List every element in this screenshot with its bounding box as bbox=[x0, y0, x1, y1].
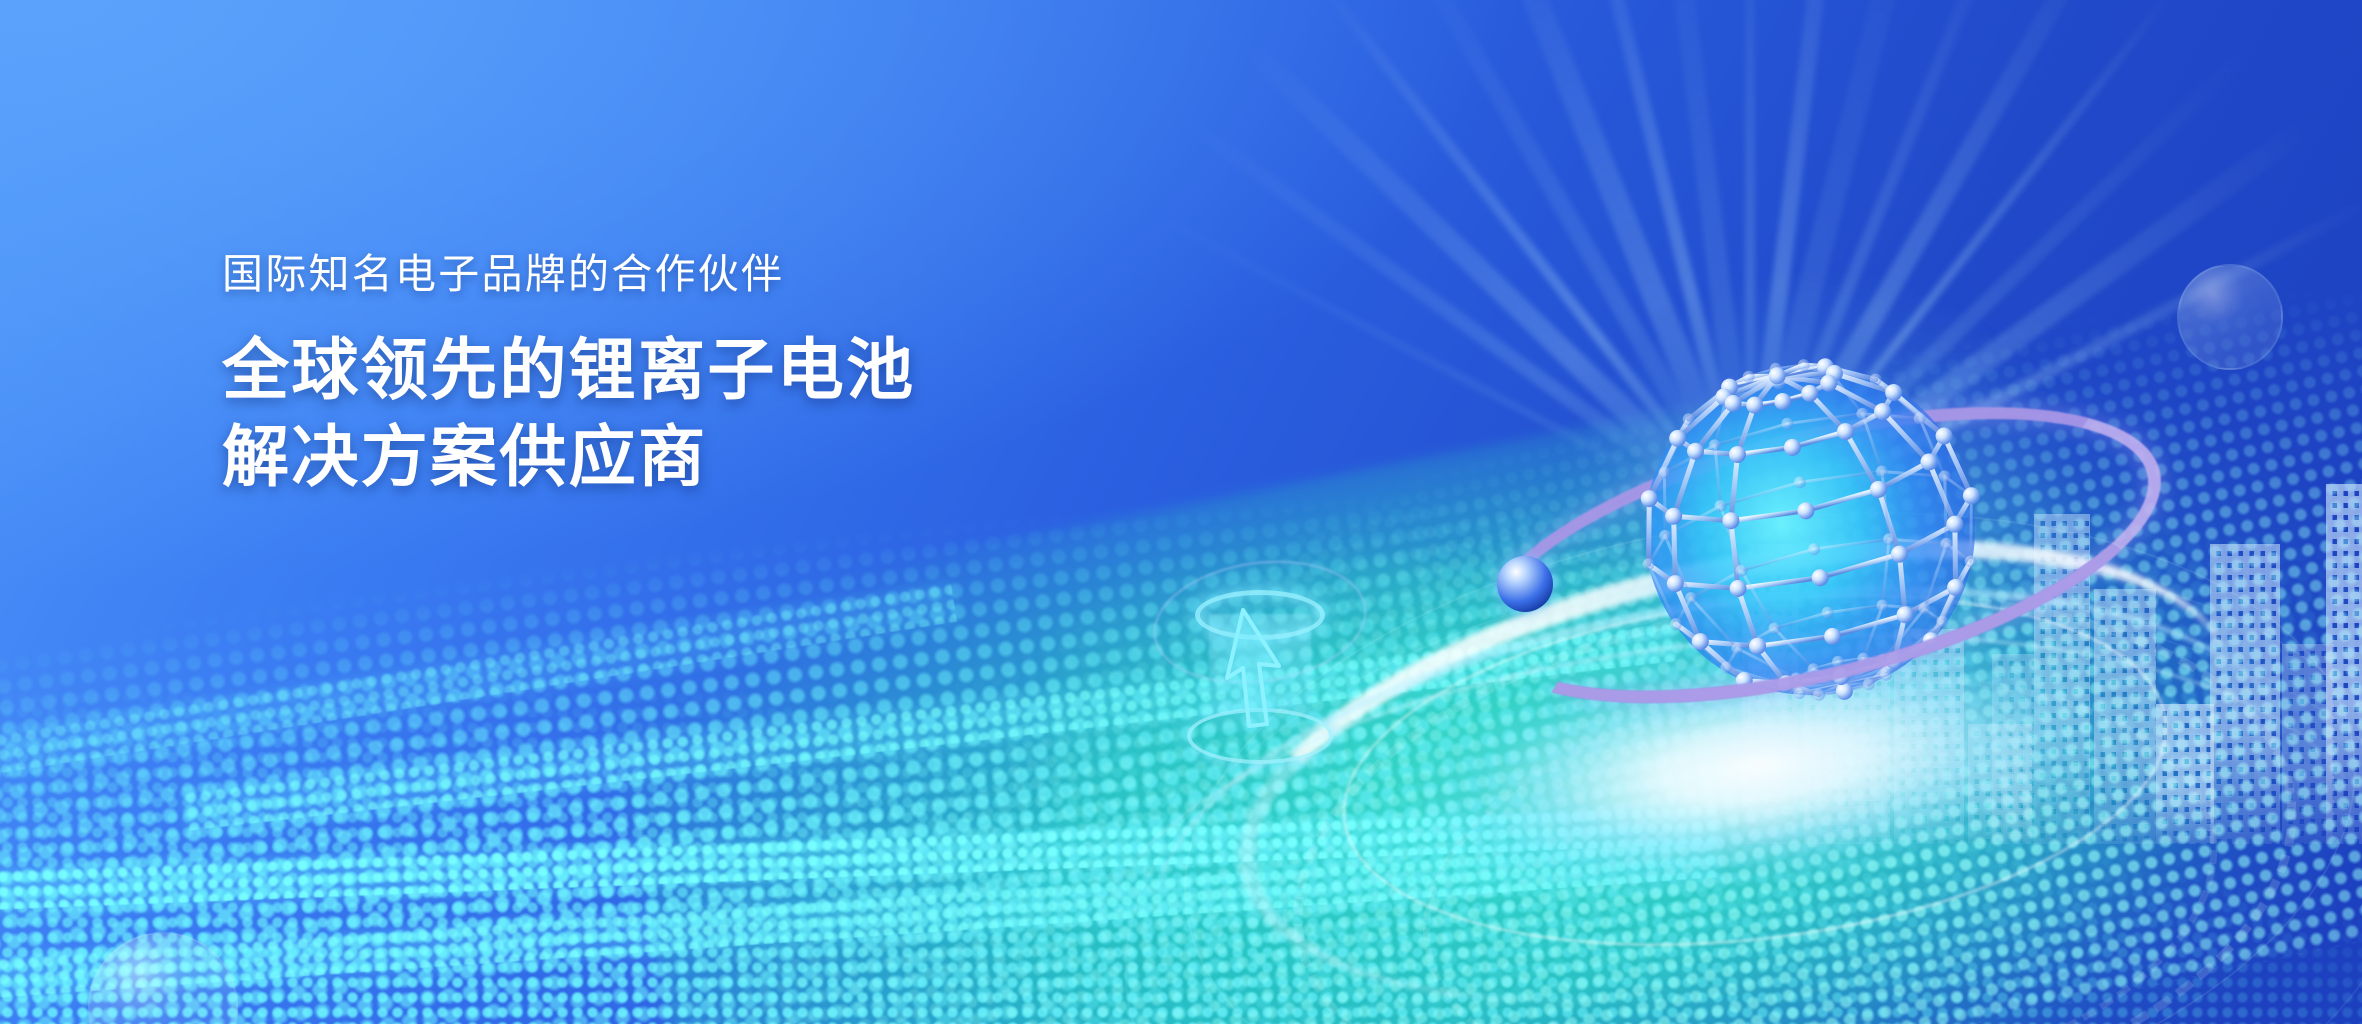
orbit-bead bbox=[1497, 556, 1553, 612]
arrow-cursor-icon bbox=[1219, 604, 1309, 754]
bubble-right bbox=[2177, 264, 2283, 370]
building-antenna bbox=[2347, 444, 2350, 484]
light-portal bbox=[1195, 590, 1325, 760]
bubble-bottom-left bbox=[88, 932, 238, 1024]
skyline-building bbox=[2282, 644, 2334, 844]
headline-line-2: 解决方案供应商 bbox=[222, 414, 915, 501]
headline-line-1: 全球领先的锂离子电池 bbox=[222, 327, 915, 414]
hero-banner: 国际知名电子品牌的合作伙伴 全球领先的锂离子电池 解决方案供应商 bbox=[0, 0, 2362, 1024]
skyline-building bbox=[2326, 484, 2362, 844]
banner-headline: 全球领先的锂离子电池 解决方案供应商 bbox=[222, 327, 915, 501]
banner-subtitle: 国际知名电子品牌的合作伙伴 bbox=[222, 250, 915, 299]
hero-copy: 国际知名电子品牌的合作伙伴 全球领先的锂离子电池 解决方案供应商 bbox=[222, 250, 915, 501]
skyline-building bbox=[2210, 544, 2280, 844]
dot-wave-crest-4 bbox=[0, 582, 957, 778]
